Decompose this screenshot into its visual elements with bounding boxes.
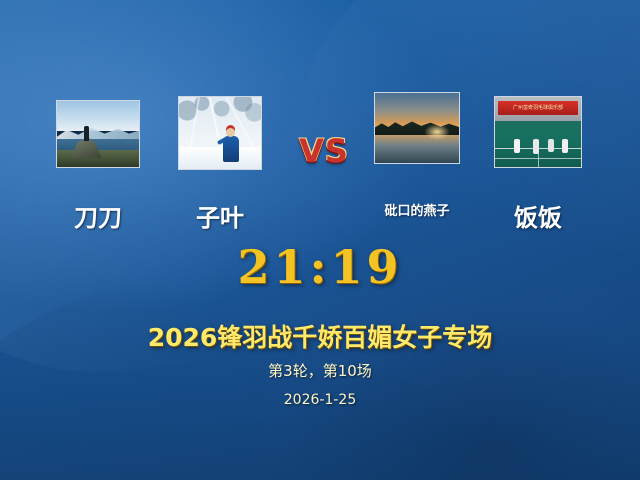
player-4-photo-content: 广州蛮奇羽毛球俱乐部 [495, 97, 581, 167]
photo-sun-glow [424, 124, 450, 140]
player-1-name: 刀刀 [56, 198, 140, 233]
round-and-match-number: 第3轮，第10场 [0, 360, 640, 381]
player-3-photo [374, 92, 460, 164]
photo-badminton-court [495, 121, 581, 167]
player-2-photo-content [179, 97, 261, 169]
match-date: 2026-1-25 [0, 392, 640, 408]
vs-label: VS [288, 132, 360, 170]
photo-person-body [223, 136, 239, 162]
player-3-name: 砒口的燕子 [366, 200, 468, 219]
photo-person-figure [84, 126, 89, 141]
match-slide: 广州蛮奇羽毛球俱乐部 刀刀 子叶 砒口的燕子 饭饭 VS 21:19 2026锋… [0, 0, 640, 480]
player-2-name: 子叶 [178, 198, 262, 233]
player-4-photo: 广州蛮奇羽毛球俱乐部 [494, 96, 582, 168]
photo-red-banner: 广州蛮奇羽毛球俱乐部 [498, 101, 577, 115]
photo-sky [57, 101, 139, 131]
photo-banner-text: 广州蛮奇羽毛球俱乐部 [498, 101, 577, 115]
player-1-photo [56, 100, 140, 168]
player-2-photo [178, 96, 262, 170]
photo-player-figure-4 [562, 139, 568, 153]
photo-player-figure-2 [533, 139, 539, 154]
photo-snow-ground [179, 147, 261, 169]
player-1-photo-content [57, 101, 139, 167]
player-3-photo-content [375, 93, 459, 163]
player-4-name: 饭饭 [494, 198, 582, 233]
photo-player-figure-3 [548, 139, 554, 152]
match-clock: 21:19 [0, 240, 640, 294]
event-title: 2026锋羽战千娇百媚女子专场 [0, 318, 640, 354]
photo-player-figure-1 [514, 139, 520, 153]
